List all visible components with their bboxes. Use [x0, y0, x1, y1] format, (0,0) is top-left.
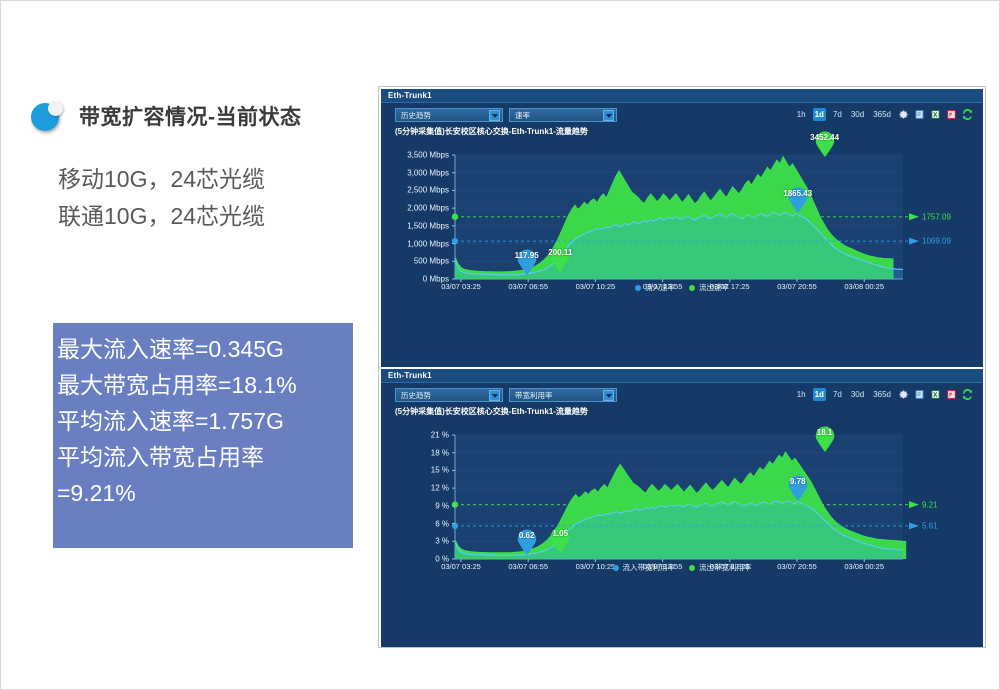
range-button-1d[interactable]: 1d — [813, 108, 826, 121]
stat-line: 平均流入速率=1.757G — [55, 403, 353, 439]
legend-item[interactable]: 流出速率 — [689, 282, 729, 293]
charts-screenshot-container: Eth-Trunk1 历史趋势 速率 1h 1d 7d — [378, 86, 986, 648]
panel-body: 历史趋势 速率 1h 1d 7d 30d 365d — [381, 103, 983, 301]
metric-type-select-value: 历史趋势 — [401, 390, 431, 401]
range-button-7d[interactable]: 7d — [831, 108, 844, 121]
pdf-export-icon[interactable] — [914, 109, 925, 120]
marker-pin-icon — [543, 242, 577, 272]
window-title: Eth-Trunk1 — [388, 91, 432, 100]
range-button-1h[interactable]: 1h — [795, 108, 808, 121]
legend-item[interactable]: 流入速率 — [635, 282, 675, 293]
legend-dot-icon — [635, 285, 641, 291]
chevron-down-icon[interactable] — [603, 110, 614, 121]
y-axis-tick-label: 3,000 Mbps — [389, 168, 449, 177]
marker-value-label: 200.11 — [543, 248, 577, 257]
y-axis-tick-label: 2,000 Mbps — [389, 204, 449, 213]
metric-type-select[interactable]: 历史趋势 — [395, 388, 503, 402]
y-axis-tick-label: 15 % — [389, 466, 449, 475]
chevron-down-icon[interactable] — [603, 390, 614, 401]
subtitle-line: 联通10G，24芯光缆 — [58, 198, 265, 235]
summary-stats-box: 最大流入速率=0.345G 最大带宽占用率=18.1% 平均流入速率=1.757… — [53, 323, 353, 548]
y-axis-tick-label: 3 % — [389, 537, 449, 546]
y-axis-tick-label: 2,500 Mbps — [389, 186, 449, 195]
marker-value-label: 18.1 — [808, 428, 842, 437]
data-point-marker[interactable]: 0.62 — [510, 525, 544, 555]
metric-select[interactable]: 速率 — [509, 108, 617, 122]
bullet-small-dot-icon — [48, 101, 63, 116]
marker-pin-icon — [781, 471, 815, 501]
marker-value-label: 117.95 — [510, 251, 544, 260]
rate-chart-plot[interactable]: 0 Mbps500 Mbps1,000 Mbps1,500 Mbps2,000 … — [389, 141, 975, 301]
chart-title: (5分钟采集值)长安校区核心交换-Eth-Trunk1-流量趋势 — [389, 406, 975, 417]
utilization-chart-plot[interactable]: 0 %3 %6 %9 %12 %15 %18 %21 %03/07 03:250… — [389, 421, 975, 581]
refresh-icon[interactable] — [962, 389, 973, 400]
legend-label: 流出速率 — [699, 282, 729, 293]
data-point-marker[interactable]: 3452.44 — [808, 127, 842, 157]
data-point-marker[interactable]: 9.78 — [781, 471, 815, 501]
excel-export-icon[interactable] — [930, 389, 941, 400]
chart-title: (5分钟采集值)长安校区核心交换-Eth-Trunk1-流量趋势 — [389, 126, 975, 137]
subtitle-line: 移动10G，24芯光缆 — [58, 161, 265, 198]
range-toolbar: 1h 1d 7d 30d 365d — [795, 388, 973, 401]
data-point-marker[interactable]: 1.05 — [543, 523, 577, 553]
y-axis-tick-label: 21 % — [389, 431, 449, 440]
marker-pin-icon — [781, 183, 815, 213]
legend-label: 流出带宽利用率 — [699, 562, 752, 573]
range-button-30d[interactable]: 30d — [849, 388, 866, 401]
chevron-down-icon[interactable] — [489, 390, 500, 401]
chart-panel-utilization: Eth-Trunk1 历史趋势 带宽利用率 1h 1d 7d — [381, 369, 983, 647]
range-button-365d[interactable]: 365d — [871, 388, 893, 401]
acrobat-export-icon[interactable] — [946, 389, 957, 400]
range-button-1d[interactable]: 1d — [813, 388, 826, 401]
marker-pin-icon — [808, 422, 842, 452]
panel-controls: 历史趋势 速率 1h 1d 7d 30d 365d — [389, 108, 975, 123]
slide-canvas: 带宽扩容情况-当前状态 移动10G，24芯光缆 联通10G，24芯光缆 最大流入… — [0, 0, 1000, 690]
gear-icon[interactable] — [898, 389, 909, 400]
subtitle-lines: 移动10G，24芯光缆 联通10G，24芯光缆 — [58, 161, 265, 235]
marker-value-label: 9.78 — [781, 477, 815, 486]
y-axis-tick-label: 500 Mbps — [389, 257, 449, 266]
chart-svg — [389, 141, 975, 301]
panel-body: 历史趋势 带宽利用率 1h 1d 7d 30d 365d — [381, 383, 983, 581]
marker-pin-icon — [543, 523, 577, 553]
metric-type-select-value: 历史趋势 — [401, 110, 431, 121]
data-point-marker[interactable]: 117.95 — [510, 245, 544, 275]
y-axis-tick-label: 9 % — [389, 501, 449, 510]
marker-pin-icon — [510, 525, 544, 555]
legend-item[interactable]: 流出带宽利用率 — [689, 562, 752, 573]
average-value-label: 9.21 — [922, 500, 938, 509]
marker-value-label: 3452.44 — [808, 133, 842, 142]
panel-title-bar: Eth-Trunk1 — [381, 369, 983, 383]
y-axis-tick-label: 1,500 Mbps — [389, 221, 449, 230]
bullet-badge-icon — [31, 101, 67, 131]
legend-dot-icon — [613, 565, 619, 571]
range-button-365d[interactable]: 365d — [871, 108, 893, 121]
acrobat-export-icon[interactable] — [946, 109, 957, 120]
stat-line: 最大流入速率=0.345G — [55, 331, 353, 367]
marker-pin-icon — [510, 245, 544, 275]
marker-value-label: 1865.43 — [781, 189, 815, 198]
window-title: Eth-Trunk1 — [388, 371, 432, 380]
chart-legend: 流入速率 流出速率 — [381, 282, 983, 293]
gear-icon[interactable] — [898, 109, 909, 120]
range-button-1h[interactable]: 1h — [795, 388, 808, 401]
metric-select-value: 速率 — [515, 110, 530, 121]
stat-line: 平均流入带宽占用率 — [55, 439, 353, 475]
y-axis-tick-label: 1,000 Mbps — [389, 239, 449, 248]
data-point-marker[interactable]: 1865.43 — [781, 183, 815, 213]
metric-select-value: 带宽利用率 — [515, 390, 553, 401]
chevron-down-icon[interactable] — [489, 110, 500, 121]
y-axis-tick-label: 12 % — [389, 484, 449, 493]
stat-line: =9.21% — [55, 475, 353, 511]
chart-legend: 流入带宽利用率 流出带宽利用率 — [381, 562, 983, 573]
range-button-7d[interactable]: 7d — [831, 388, 844, 401]
legend-dot-icon — [689, 285, 695, 291]
pdf-export-icon[interactable] — [914, 389, 925, 400]
y-axis-tick-label: 18 % — [389, 448, 449, 457]
page-title: 带宽扩容情况-当前状态 — [79, 101, 302, 131]
refresh-icon[interactable] — [962, 109, 973, 120]
chart-svg — [389, 421, 975, 581]
average-value-label: 1757.09 — [922, 212, 951, 221]
panel-controls: 历史趋势 带宽利用率 1h 1d 7d 30d 365d — [389, 388, 975, 403]
headline-row: 带宽扩容情况-当前状态 — [31, 101, 302, 131]
average-value-label: 1069.09 — [922, 237, 951, 246]
marker-value-label: 0.62 — [510, 531, 544, 540]
legend-label: 流入速率 — [645, 282, 675, 293]
legend-label: 流入带宽利用率 — [623, 562, 676, 573]
range-toolbar: 1h 1d 7d 30d 365d — [795, 108, 973, 121]
marker-value-label: 1.05 — [543, 529, 577, 538]
excel-export-icon[interactable] — [930, 109, 941, 120]
y-axis-tick-label: 3,500 Mbps — [389, 151, 449, 160]
metric-select[interactable]: 带宽利用率 — [509, 388, 617, 402]
stat-line: 最大带宽占用率=18.1% — [55, 367, 353, 403]
range-button-30d[interactable]: 30d — [849, 108, 866, 121]
average-value-label: 5.61 — [922, 521, 938, 530]
y-axis-tick-label: 6 % — [389, 519, 449, 528]
metric-type-select[interactable]: 历史趋势 — [395, 108, 503, 122]
marker-pin-icon — [808, 127, 842, 157]
legend-dot-icon — [689, 565, 695, 571]
panel-title-bar: Eth-Trunk1 — [381, 89, 983, 103]
legend-item[interactable]: 流入带宽利用率 — [613, 562, 676, 573]
data-point-marker[interactable]: 18.1 — [808, 422, 842, 452]
chart-panel-rate: Eth-Trunk1 历史趋势 速率 1h 1d 7d — [381, 89, 983, 367]
data-point-marker[interactable]: 200.11 — [543, 242, 577, 272]
